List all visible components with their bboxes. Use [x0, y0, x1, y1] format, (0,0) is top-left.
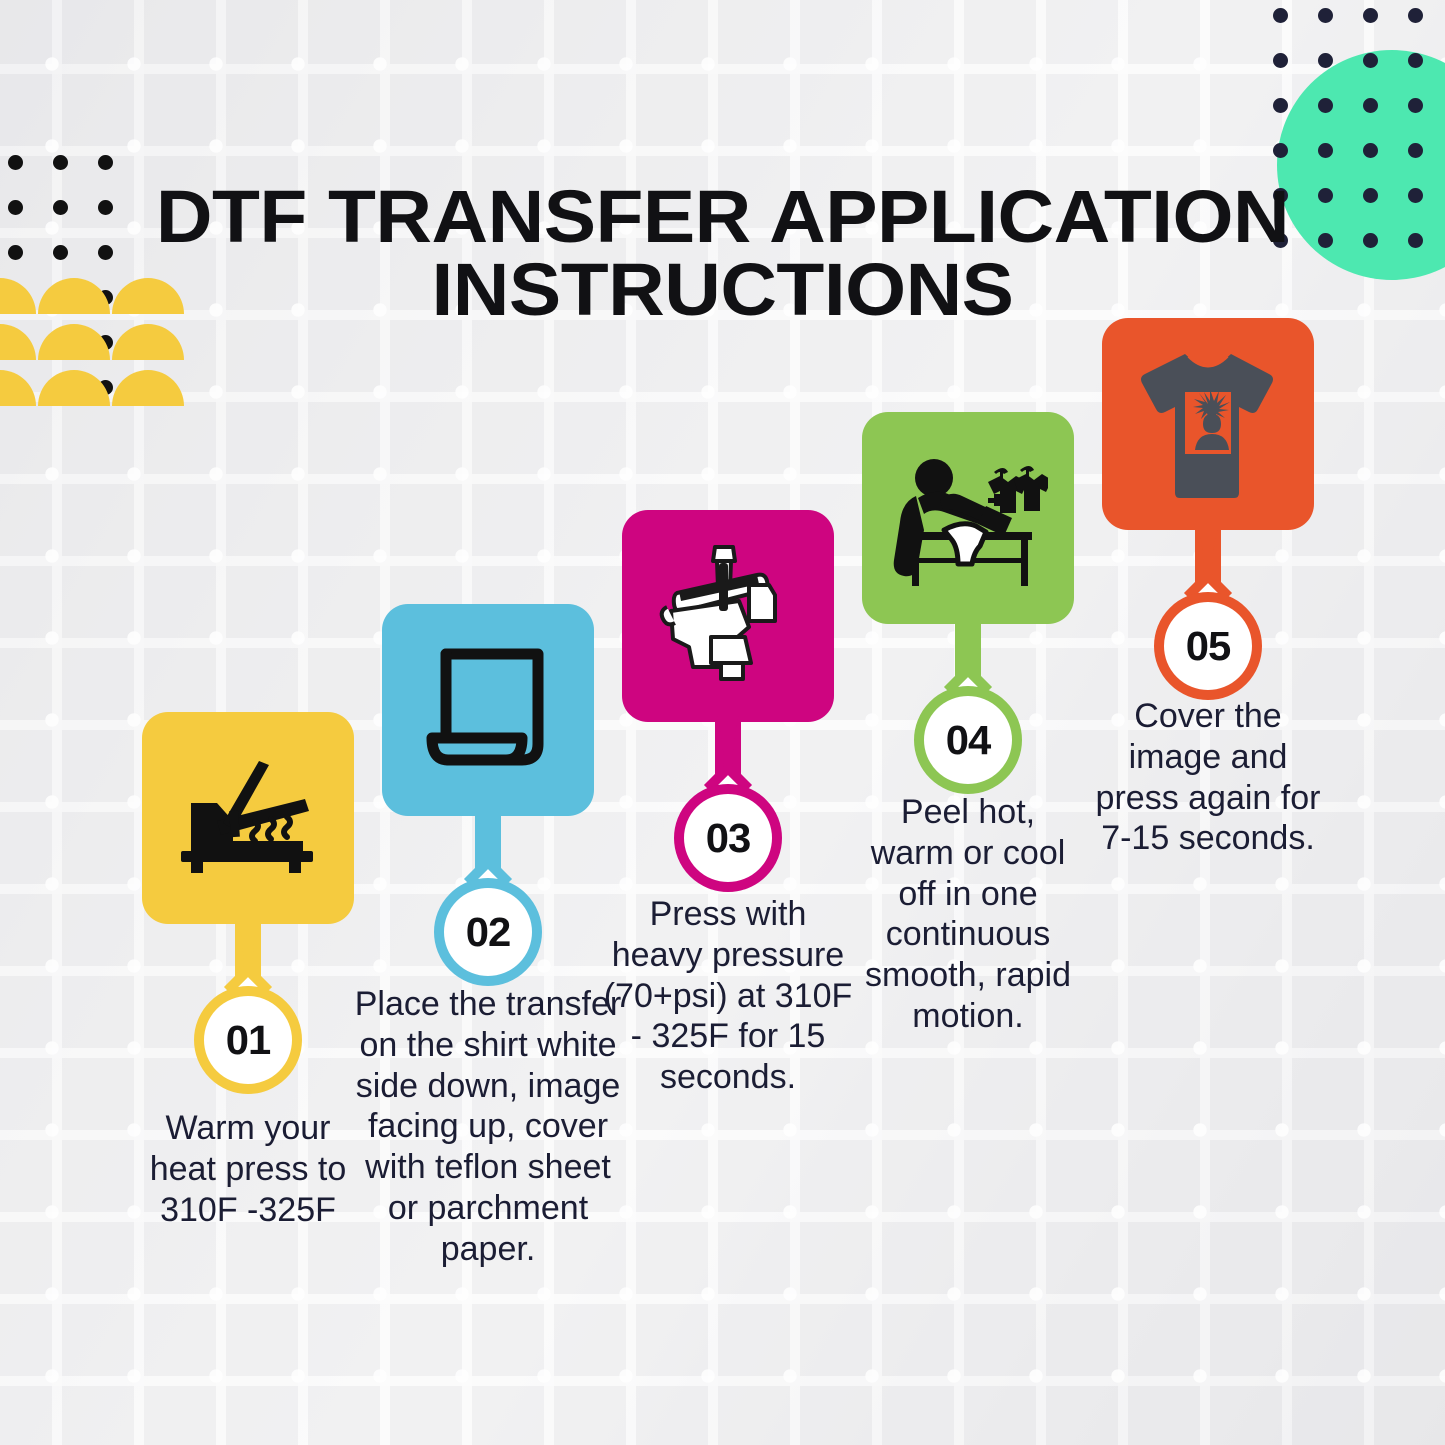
step-5-number-badge: 05 — [1154, 592, 1262, 700]
steps-container: 01 Warm your heat press to 310F -325F 02 — [0, 0, 1445, 1445]
step-2[interactable]: 02 Place the transfer on the shirt white… — [368, 604, 608, 816]
step-5-number: 05 — [1153, 592, 1263, 700]
step-1-number-badge: 01 — [194, 986, 302, 1094]
step-1-caption: Warm your heat press to 310F -325F — [128, 1108, 368, 1230]
step-3-icon-tile — [622, 510, 834, 722]
step-5-icon-tile — [1102, 318, 1314, 530]
step-3-number: 03 — [673, 784, 783, 892]
step-3-caption: Press with heavy pressure (70+psi) at 31… — [603, 894, 853, 1098]
step-4-icon-tile — [862, 412, 1074, 624]
step-1-icon-tile — [142, 712, 354, 924]
step-4[interactable]: 04 Peel hot, warm or cool off in one con… — [848, 412, 1088, 624]
step-4-number-badge: 04 — [914, 686, 1022, 794]
step-2-number: 02 — [433, 878, 543, 986]
step-5[interactable]: 05 Cover the image and press again for 7… — [1088, 318, 1328, 530]
printed-tshirt-icon — [1133, 348, 1283, 500]
peeling-transfer-icon — [888, 444, 1048, 592]
step-1-number: 01 — [193, 986, 303, 1094]
step-3[interactable]: 03 Press with heavy pressure (70+psi) at… — [608, 510, 848, 722]
heat-press-machine-icon — [653, 541, 803, 691]
step-2-number-badge: 02 — [434, 878, 542, 986]
step-2-icon-tile — [382, 604, 594, 816]
step-4-caption: Peel hot, warm or cool off in one contin… — [858, 792, 1078, 1037]
heat-press-open-icon — [173, 759, 323, 877]
step-3-number-badge: 03 — [674, 784, 782, 892]
step-1[interactable]: 01 Warm your heat press to 310F -325F — [128, 712, 368, 924]
transfer-sheet-icon — [426, 646, 550, 774]
step-2-caption: Place the transfer on the shirt white si… — [346, 984, 630, 1270]
step-4-number: 04 — [913, 686, 1023, 794]
step-5-caption: Cover the image and press again for 7-15… — [1091, 696, 1325, 859]
